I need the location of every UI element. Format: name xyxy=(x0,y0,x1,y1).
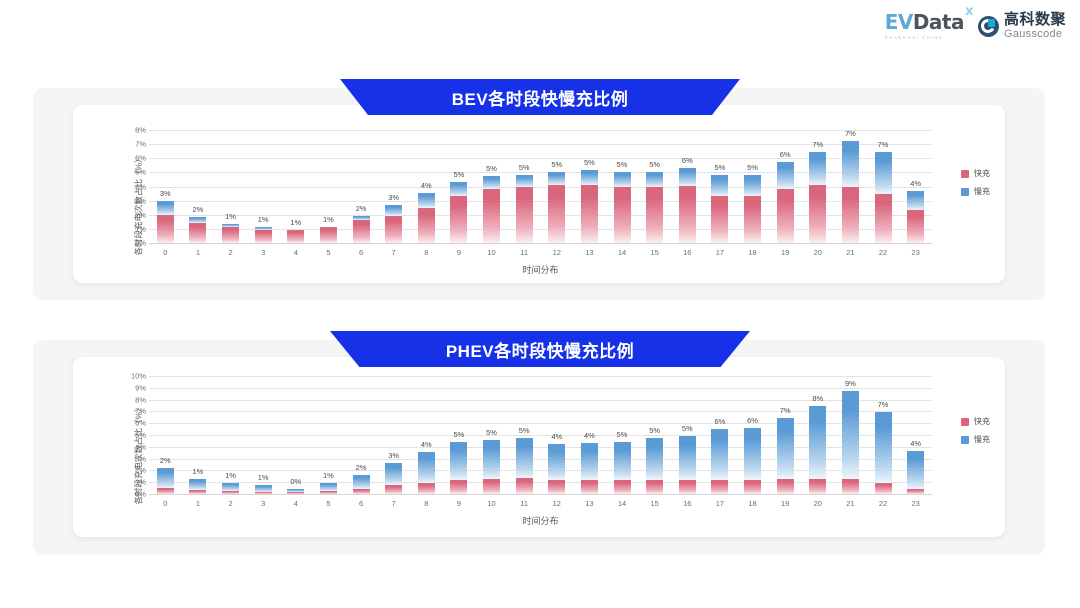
bar-segment-slow-charge[interactable] xyxy=(711,429,728,480)
bar-segment-fast-charge[interactable] xyxy=(711,196,728,243)
bar-segment-fast-charge[interactable] xyxy=(646,187,663,243)
bar-stack[interactable] xyxy=(744,428,761,494)
gausscode-logo: 高科数聚 Gausscode xyxy=(978,12,1066,40)
bar-stack[interactable] xyxy=(744,175,761,243)
bar-segment-fast-charge[interactable] xyxy=(418,208,435,243)
bar-segment-slow-charge[interactable] xyxy=(320,483,337,491)
bar-value-label: 7% xyxy=(802,140,835,149)
x-tick-label: 18 xyxy=(736,244,769,257)
bar-segment-fast-charge[interactable] xyxy=(777,189,794,243)
bar-value-label: 5% xyxy=(704,163,737,172)
bar-column[interactable]: 7% xyxy=(867,376,900,494)
bar-value-label: 4% xyxy=(899,179,932,188)
bar-column[interactable]: 2% xyxy=(182,130,215,243)
bev-y-axis-labels: 0%1%2%3%4%5%6%7%8% xyxy=(118,130,146,243)
bar-column[interactable]: 9% xyxy=(834,376,867,494)
bar-column[interactable]: 2% xyxy=(345,130,378,243)
legend-item[interactable]: 慢充 xyxy=(961,186,990,197)
x-tick-label: 23 xyxy=(899,244,932,257)
bar-segment-slow-charge[interactable] xyxy=(842,391,859,479)
bar-column[interactable]: 1% xyxy=(247,130,280,243)
bev-y-tick-label: 2% xyxy=(135,210,146,219)
bar-segment-fast-charge[interactable] xyxy=(189,223,206,243)
bar-value-label: 5% xyxy=(573,158,606,167)
bar-segment-slow-charge[interactable] xyxy=(483,176,500,189)
legend-swatch-icon xyxy=(961,188,969,196)
bar-value-label: 5% xyxy=(638,426,671,435)
phev-bar-group: 2%1%1%1%0%1%2%3%4%5%5%5%4%4%5%5%5%6%6%7%… xyxy=(149,376,932,494)
bar-segment-fast-charge[interactable] xyxy=(548,480,565,494)
bar-value-label: 1% xyxy=(214,471,247,480)
bev-chart-title: BEV各时段快慢充比例 xyxy=(452,85,628,110)
bar-column[interactable]: 5% xyxy=(508,130,541,243)
bar-stack[interactable] xyxy=(353,475,370,494)
bar-stack[interactable] xyxy=(516,438,533,494)
bar-column[interactable]: 1% xyxy=(312,376,345,494)
phev-y-axis-labels: 0%1%2%3%4%5%6%7%8%9%10% xyxy=(118,376,146,494)
x-tick-label: 2 xyxy=(214,495,247,508)
bar-value-label: 4% xyxy=(410,181,443,190)
bev-legend: 快充慢充 xyxy=(961,168,990,197)
bar-stack[interactable] xyxy=(842,141,859,243)
x-tick-label: 1 xyxy=(182,495,215,508)
bar-segment-slow-charge[interactable] xyxy=(777,418,794,479)
bar-value-label: 6% xyxy=(736,416,769,425)
bar-segment-fast-charge[interactable] xyxy=(516,187,533,243)
gausscode-chinese-name: 高科数聚 xyxy=(1004,12,1066,27)
bar-column[interactable]: 6% xyxy=(736,376,769,494)
gausscode-ring-icon xyxy=(980,17,998,35)
x-tick-label: 20 xyxy=(802,244,835,257)
bar-segment-fast-charge[interactable] xyxy=(679,480,696,494)
bar-segment-fast-charge[interactable] xyxy=(744,480,761,494)
bar-stack[interactable] xyxy=(679,168,696,243)
bar-column[interactable]: 5% xyxy=(443,130,476,243)
phev-y-tick-label: 8% xyxy=(135,395,146,404)
bar-segment-slow-charge[interactable] xyxy=(744,428,761,480)
legend-label: 慢充 xyxy=(974,434,990,445)
legend-swatch-icon xyxy=(961,170,969,178)
bar-segment-fast-charge[interactable] xyxy=(548,185,565,243)
phev-y-tick-label: 6% xyxy=(135,419,146,428)
bar-value-label: 2% xyxy=(182,205,215,214)
bar-column[interactable]: 1% xyxy=(182,376,215,494)
bar-segment-slow-charge[interactable] xyxy=(353,475,370,489)
bar-stack[interactable] xyxy=(646,438,663,494)
bar-segment-slow-charge[interactable] xyxy=(418,452,435,483)
bar-stack[interactable] xyxy=(907,451,924,494)
bar-segment-slow-charge[interactable] xyxy=(189,479,206,491)
gausscode-mark-icon xyxy=(978,16,999,37)
phev-y-tick-label: 3% xyxy=(135,454,146,463)
bar-segment-fast-charge[interactable] xyxy=(353,220,370,243)
evdata-wordmark: EVDatax xyxy=(885,12,964,32)
bar-value-label: 1% xyxy=(182,467,215,476)
bar-segment-slow-charge[interactable] xyxy=(875,412,892,483)
x-tick-label: 22 xyxy=(867,495,900,508)
bar-column[interactable]: 5% xyxy=(736,130,769,243)
bar-segment-fast-charge[interactable] xyxy=(711,480,728,494)
bar-stack[interactable] xyxy=(189,217,206,243)
phev-y-tick-label: 9% xyxy=(135,383,146,392)
bar-stack[interactable] xyxy=(646,172,663,243)
x-tick-label: 0 xyxy=(149,244,182,257)
bar-value-label: 4% xyxy=(899,439,932,448)
bar-column[interactable]: 1% xyxy=(312,130,345,243)
bar-column[interactable]: 8% xyxy=(802,376,835,494)
bev-stacked-bar-chart: 各时段充电次数占比（%）0%1%2%3%4%5%6%7%8%3%2%1%1%1%… xyxy=(90,130,990,280)
bar-segment-fast-charge[interactable] xyxy=(777,479,794,494)
phev-x-axis: 01234567891011121314151617181920212223 xyxy=(149,494,932,508)
bar-segment-fast-charge[interactable] xyxy=(385,485,402,494)
bar-segment-slow-charge[interactable] xyxy=(450,182,467,197)
bar-segment-fast-charge[interactable] xyxy=(907,210,924,243)
bar-stack[interactable] xyxy=(418,452,435,494)
bar-value-label: 3% xyxy=(149,189,182,198)
evdata-x-icon: x xyxy=(965,5,973,18)
x-tick-label: 3 xyxy=(247,495,280,508)
bar-column[interactable]: 4% xyxy=(573,376,606,494)
bar-segment-slow-charge[interactable] xyxy=(646,172,663,187)
bar-value-label: 5% xyxy=(736,163,769,172)
bar-stack[interactable] xyxy=(353,216,370,243)
bar-value-label: 1% xyxy=(214,212,247,221)
bar-segment-slow-charge[interactable] xyxy=(907,451,924,489)
bar-value-label: 8% xyxy=(802,394,835,403)
bar-segment-slow-charge[interactable] xyxy=(157,201,174,215)
bar-stack[interactable] xyxy=(679,436,696,494)
x-tick-label: 10 xyxy=(475,495,508,508)
bar-stack[interactable] xyxy=(157,201,174,243)
phev-x-axis-title: 时间分布 xyxy=(149,514,932,527)
bar-stack[interactable] xyxy=(450,182,467,243)
bar-segment-slow-charge[interactable] xyxy=(777,162,794,190)
legend-item[interactable]: 快充 xyxy=(961,416,990,427)
bar-stack[interactable] xyxy=(614,172,631,243)
bar-value-label: 3% xyxy=(377,193,410,202)
x-tick-label: 14 xyxy=(606,495,639,508)
bar-segment-fast-charge[interactable] xyxy=(483,189,500,243)
bar-stack[interactable] xyxy=(516,175,533,243)
bar-segment-slow-charge[interactable] xyxy=(809,152,826,185)
x-tick-label: 22 xyxy=(867,244,900,257)
x-tick-label: 19 xyxy=(769,244,802,257)
bar-segment-slow-charge[interactable] xyxy=(744,175,761,195)
bar-column[interactable]: 5% xyxy=(704,130,737,243)
bar-stack[interactable] xyxy=(418,193,435,243)
bev-x-axis: 01234567891011121314151617181920212223 xyxy=(149,243,932,257)
x-tick-label: 5 xyxy=(312,495,345,508)
x-tick-label: 21 xyxy=(834,495,867,508)
bar-stack[interactable] xyxy=(581,170,598,243)
bar-segment-fast-charge[interactable] xyxy=(320,227,337,243)
logo-group: EVDatax shanghai china 高科数聚 Gausscode xyxy=(885,12,1066,40)
bar-stack[interactable] xyxy=(809,152,826,243)
x-tick-label: 4 xyxy=(280,495,313,508)
bar-segment-slow-charge[interactable] xyxy=(711,175,728,196)
x-tick-label: 10 xyxy=(475,244,508,257)
bar-value-label: 6% xyxy=(671,156,704,165)
bar-segment-fast-charge[interactable] xyxy=(614,187,631,243)
bar-column[interactable]: 2% xyxy=(345,376,378,494)
bar-value-label: 5% xyxy=(671,424,704,433)
bar-value-label: 5% xyxy=(475,428,508,437)
bar-value-label: 1% xyxy=(280,218,313,227)
bar-value-label: 6% xyxy=(704,417,737,426)
bar-segment-slow-charge[interactable] xyxy=(614,442,631,481)
bar-column[interactable]: 5% xyxy=(638,130,671,243)
bar-segment-fast-charge[interactable] xyxy=(842,479,859,494)
bar-stack[interactable] xyxy=(614,442,631,495)
phev-y-tick-label: 0% xyxy=(135,490,146,499)
bev-bar-group: 3%2%1%1%1%1%2%3%4%5%5%5%5%5%5%5%6%5%5%6%… xyxy=(149,130,932,243)
bar-segment-slow-charge[interactable] xyxy=(450,442,467,480)
legend-label: 快充 xyxy=(974,416,990,427)
bar-segment-fast-charge[interactable] xyxy=(385,216,402,243)
bar-value-label: 2% xyxy=(345,463,378,472)
x-tick-label: 11 xyxy=(508,495,541,508)
bar-segment-slow-charge[interactable] xyxy=(614,172,631,188)
bar-segment-fast-charge[interactable] xyxy=(614,480,631,494)
bar-stack[interactable] xyxy=(809,406,826,495)
legend-label: 快充 xyxy=(974,168,990,179)
bar-segment-fast-charge[interactable] xyxy=(875,483,892,494)
bar-segment-slow-charge[interactable] xyxy=(679,436,696,481)
x-tick-label: 7 xyxy=(377,244,410,257)
bar-column[interactable]: 1% xyxy=(247,376,280,494)
bar-value-label: 5% xyxy=(443,170,476,179)
x-tick-label: 17 xyxy=(704,244,737,257)
bar-column[interactable]: 1% xyxy=(214,376,247,494)
x-tick-label: 12 xyxy=(541,244,574,257)
bar-stack[interactable] xyxy=(222,483,239,494)
bar-segment-slow-charge[interactable] xyxy=(385,463,402,485)
bar-segment-slow-charge[interactable] xyxy=(548,172,565,185)
x-tick-label: 8 xyxy=(410,244,443,257)
x-tick-label: 17 xyxy=(704,495,737,508)
x-tick-label: 3 xyxy=(247,244,280,257)
bar-column[interactable]: 3% xyxy=(377,376,410,494)
bar-stack[interactable] xyxy=(255,485,272,494)
bar-column[interactable]: 6% xyxy=(704,376,737,494)
x-tick-label: 8 xyxy=(410,495,443,508)
x-tick-label: 13 xyxy=(573,244,606,257)
bar-segment-slow-charge[interactable] xyxy=(581,170,598,185)
bar-stack[interactable] xyxy=(189,479,206,494)
bar-value-label: 5% xyxy=(475,164,508,173)
bar-stack[interactable] xyxy=(548,444,565,494)
bar-segment-slow-charge[interactable] xyxy=(418,193,435,208)
bar-segment-fast-charge[interactable] xyxy=(450,196,467,243)
bar-column[interactable]: 6% xyxy=(671,130,704,243)
x-tick-label: 5 xyxy=(312,244,345,257)
bar-stack[interactable] xyxy=(711,429,728,494)
bev-y-tick-label: 0% xyxy=(135,239,146,248)
bar-segment-fast-charge[interactable] xyxy=(679,186,696,243)
bar-segment-slow-charge[interactable] xyxy=(516,175,533,187)
bar-stack[interactable] xyxy=(320,483,337,494)
x-tick-label: 16 xyxy=(671,495,704,508)
bar-column[interactable]: 5% xyxy=(606,130,639,243)
bar-stack[interactable] xyxy=(483,440,500,494)
bar-column[interactable]: 4% xyxy=(899,376,932,494)
bar-column[interactable]: 7% xyxy=(867,130,900,243)
bev-y-tick-label: 8% xyxy=(135,126,146,135)
bar-stack[interactable] xyxy=(385,205,402,243)
bar-segment-slow-charge[interactable] xyxy=(516,438,533,478)
bar-segment-slow-charge[interactable] xyxy=(842,141,859,187)
phev-y-tick-label: 4% xyxy=(135,442,146,451)
bar-segment-slow-charge[interactable] xyxy=(809,406,826,479)
bev-y-tick-label: 7% xyxy=(135,140,146,149)
bar-column[interactable]: 4% xyxy=(899,130,932,243)
bar-column[interactable]: 7% xyxy=(802,130,835,243)
bar-segment-fast-charge[interactable] xyxy=(646,480,663,494)
bar-stack[interactable] xyxy=(548,172,565,243)
bar-segment-slow-charge[interactable] xyxy=(679,168,696,186)
bar-stack[interactable] xyxy=(385,463,402,494)
bar-stack[interactable] xyxy=(157,468,174,494)
bar-segment-fast-charge[interactable] xyxy=(809,185,826,243)
bev-chart-title-banner: BEV各时段快慢充比例 xyxy=(340,79,740,115)
bar-value-label: 6% xyxy=(769,150,802,159)
x-tick-label: 9 xyxy=(443,495,476,508)
bar-segment-fast-charge[interactable] xyxy=(255,230,272,243)
legend-swatch-icon xyxy=(961,418,969,426)
bar-column[interactable]: 1% xyxy=(214,130,247,243)
x-tick-label: 4 xyxy=(280,244,313,257)
evdata-logo: EVDatax shanghai china xyxy=(885,12,964,40)
x-tick-label: 15 xyxy=(638,244,671,257)
bar-column[interactable]: 4% xyxy=(541,376,574,494)
bar-segment-fast-charge[interactable] xyxy=(418,483,435,494)
bar-column[interactable]: 5% xyxy=(443,376,476,494)
x-tick-label: 9 xyxy=(443,244,476,257)
bar-column[interactable]: 2% xyxy=(149,376,182,494)
bar-column[interactable]: 5% xyxy=(638,376,671,494)
page-header: EVDatax shanghai china 高科数聚 Gausscode xyxy=(0,0,1080,58)
bar-value-label: 1% xyxy=(247,473,280,482)
bar-column[interactable]: 1% xyxy=(280,130,313,243)
bar-value-label: 5% xyxy=(443,430,476,439)
bar-segment-fast-charge[interactable] xyxy=(809,479,826,494)
bar-stack[interactable] xyxy=(450,442,467,494)
legend-swatch-icon xyxy=(961,436,969,444)
bar-stack[interactable] xyxy=(320,227,337,243)
bar-segment-slow-charge[interactable] xyxy=(483,440,500,480)
legend-item[interactable]: 慢充 xyxy=(961,434,990,445)
bar-stack[interactable] xyxy=(222,224,239,243)
phev-legend: 快充慢充 xyxy=(961,416,990,445)
bar-stack[interactable] xyxy=(777,162,794,243)
bar-segment-fast-charge[interactable] xyxy=(483,479,500,494)
bar-segment-slow-charge[interactable] xyxy=(222,483,239,491)
bev-y-tick-label: 6% xyxy=(135,154,146,163)
bar-segment-fast-charge[interactable] xyxy=(581,480,598,494)
bar-segment-fast-charge[interactable] xyxy=(450,480,467,494)
bar-column[interactable]: 5% xyxy=(541,130,574,243)
bar-column[interactable]: 4% xyxy=(410,376,443,494)
legend-item[interactable]: 快充 xyxy=(961,168,990,179)
bar-stack[interactable] xyxy=(875,412,892,494)
bar-column[interactable]: 7% xyxy=(834,130,867,243)
bar-value-label: 5% xyxy=(508,426,541,435)
bar-column[interactable]: 6% xyxy=(769,130,802,243)
bar-stack[interactable] xyxy=(777,418,794,494)
phev-y-tick-label: 10% xyxy=(131,372,146,381)
bar-value-label: 5% xyxy=(638,160,671,169)
x-tick-label: 2 xyxy=(214,244,247,257)
bar-stack[interactable] xyxy=(287,230,304,243)
bar-value-label: 1% xyxy=(247,215,280,224)
bar-segment-slow-charge[interactable] xyxy=(907,191,924,210)
bar-segment-slow-charge[interactable] xyxy=(875,152,892,194)
bar-stack[interactable] xyxy=(581,443,598,494)
bar-column[interactable]: 4% xyxy=(410,130,443,243)
x-tick-label: 6 xyxy=(345,495,378,508)
phev-y-tick-label: 1% xyxy=(135,478,146,487)
bar-stack[interactable] xyxy=(842,391,859,494)
bar-column[interactable]: 5% xyxy=(671,376,704,494)
bar-column[interactable]: 5% xyxy=(475,376,508,494)
bar-segment-fast-charge[interactable] xyxy=(875,194,892,243)
bar-segment-fast-charge[interactable] xyxy=(287,230,304,243)
bar-column[interactable]: 5% xyxy=(573,130,606,243)
bar-value-label: 9% xyxy=(834,379,867,388)
gausscode-wordmark: 高科数聚 Gausscode xyxy=(1004,12,1066,40)
phev-y-tick-label: 7% xyxy=(135,407,146,416)
bar-segment-fast-charge[interactable] xyxy=(516,478,533,494)
phev-stacked-bar-chart: 各时段充电次数占比（%）0%1%2%3%4%5%6%7%8%9%10%2%1%1… xyxy=(90,376,990,531)
bar-value-label: 4% xyxy=(573,431,606,440)
bar-column[interactable]: 0% xyxy=(280,376,313,494)
bar-value-label: 1% xyxy=(312,215,345,224)
bar-value-label: 7% xyxy=(769,406,802,415)
bar-column[interactable]: 7% xyxy=(769,376,802,494)
bar-segment-slow-charge[interactable] xyxy=(385,205,402,216)
bar-segment-slow-charge[interactable] xyxy=(646,438,663,480)
bar-stack[interactable] xyxy=(483,176,500,243)
bar-segment-fast-charge[interactable] xyxy=(157,215,174,243)
bar-segment-fast-charge[interactable] xyxy=(842,187,859,243)
bev-plot-area: 0%1%2%3%4%5%6%7%8%3%2%1%1%1%1%2%3%4%5%5%… xyxy=(118,130,990,243)
bar-column[interactable]: 5% xyxy=(508,376,541,494)
bar-segment-slow-charge[interactable] xyxy=(581,443,598,480)
bar-stack[interactable] xyxy=(907,191,924,243)
gausscode-english-name: Gausscode xyxy=(1004,29,1066,40)
bar-value-label: 4% xyxy=(410,440,443,449)
bar-value-label: 2% xyxy=(149,456,182,465)
bar-segment-fast-charge[interactable] xyxy=(581,185,598,243)
phev-chart-title-banner: PHEV各时段快慢充比例 xyxy=(330,331,750,367)
legend-label: 慢充 xyxy=(974,186,990,197)
bar-value-label: 3% xyxy=(377,451,410,460)
bar-segment-slow-charge[interactable] xyxy=(548,444,565,479)
bar-column[interactable]: 3% xyxy=(149,130,182,243)
x-tick-label: 11 xyxy=(508,244,541,257)
bar-column[interactable]: 5% xyxy=(475,130,508,243)
bar-stack[interactable] xyxy=(255,227,272,243)
bar-segment-slow-charge[interactable] xyxy=(157,468,174,488)
x-tick-label: 0 xyxy=(149,495,182,508)
bar-column[interactable]: 5% xyxy=(606,376,639,494)
bar-column[interactable]: 3% xyxy=(377,130,410,243)
bar-segment-fast-charge[interactable] xyxy=(222,227,239,243)
bar-segment-fast-charge[interactable] xyxy=(744,196,761,243)
bar-stack[interactable] xyxy=(711,175,728,244)
bar-stack[interactable] xyxy=(875,152,892,243)
bar-value-label: 4% xyxy=(541,432,574,441)
